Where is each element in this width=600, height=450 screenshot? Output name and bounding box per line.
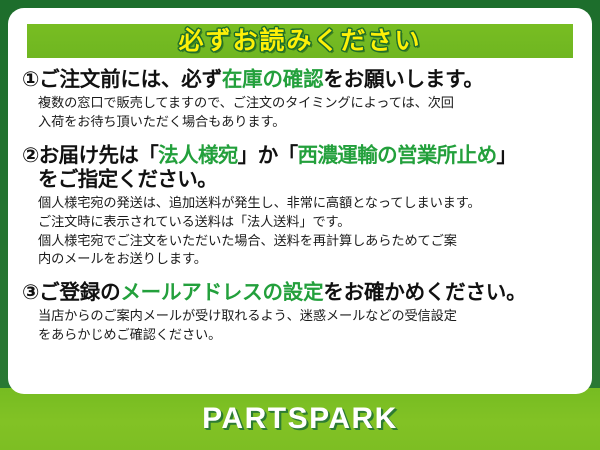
- notice-item-2-highlight-1: 法人様宛: [158, 144, 238, 167]
- white-content-panel: 必ずお読みください ①ご注文前には、必ず在庫の確認をお願いします。 複数の窓口で…: [8, 8, 592, 394]
- notice-item-3-subline-2: をあらかじめご確認ください。: [38, 326, 580, 345]
- notice-item-2: ②お届け先は「法人様宛」か「西濃運輸の営業所止め」をご指定ください。 個人様宅宛…: [22, 144, 580, 269]
- notice-item-1-marker: ①: [22, 68, 39, 91]
- notice-item-2-bracket-close-2: 」: [497, 144, 517, 167]
- notice-item-2-subtext: 個人様宅宛の発送は、追加送料が発生し、非常に高額となってしまいます。 ご注文時に…: [38, 194, 580, 269]
- notice-item-2-headline-post: をご指定ください。: [38, 168, 580, 192]
- notice-item-3: ③ご登録のメールアドレスの設定をお確かめください。 当店からのご案内メールが受け…: [22, 281, 580, 345]
- notice-item-3-headline-highlight: メールアドレスの設定: [120, 281, 323, 304]
- notice-items-list: ①ご注文前には、必ず在庫の確認をお願いします。 複数の窓口で販売してますので、ご…: [8, 68, 592, 394]
- notice-item-1-subtext: 複数の窓口で販売してますので、ご注文のタイミングによっては、次回 入荷をお待ち頂…: [38, 94, 580, 131]
- notice-item-3-headline-pre: ご登録の: [39, 281, 120, 304]
- notice-item-1-headline: ①ご注文前には、必ず在庫の確認をお願いします。: [22, 68, 580, 92]
- notice-item-2-headline: ②お届け先は「法人様宛」か「西濃運輸の営業所止め」をご指定ください。: [22, 144, 580, 192]
- footer-logo-area: PARTSPARK: [0, 388, 600, 450]
- notice-item-3-subline-1: 当店からのご案内メールが受け取れるよう、迷惑メールなどの受信設定: [38, 307, 580, 326]
- notice-item-3-headline-post: をお確かめください。: [323, 281, 526, 304]
- notice-item-2-bracket-close-1: 」: [238, 144, 258, 167]
- notice-item-2-headline-mid: か: [258, 144, 278, 167]
- banner-title: 必ずお読みください: [178, 29, 421, 54]
- notice-item-1: ①ご注文前には、必ず在庫の確認をお願いします。 複数の窓口で販売してますので、ご…: [22, 68, 580, 132]
- notice-item-1-subline-2: 入荷をお待ち頂いただく場合もあります。: [38, 113, 580, 132]
- notice-item-2-marker: ②: [22, 144, 39, 167]
- header-banner: 必ずお読みください: [27, 24, 573, 58]
- notice-item-1-subline-1: 複数の窓口で販売してますので、ご注文のタイミングによっては、次回: [38, 94, 580, 113]
- notice-item-2-subline-3: 個人様宅宛でご注文をいただいた場合、送料を再計算しあらためてご案: [38, 232, 580, 251]
- notice-item-2-bracket-open-1: 「: [138, 144, 158, 167]
- notice-card: 必ずお読みください ①ご注文前には、必ず在庫の確認をお願いします。 複数の窓口で…: [0, 0, 600, 450]
- notice-item-1-headline-highlight: 在庫の確認: [222, 68, 324, 91]
- notice-item-2-headline-pre: お届け先は: [39, 144, 139, 167]
- notice-item-2-subline-1: 個人様宅宛の発送は、追加送料が発生し、非常に高額となってしまいます。: [38, 194, 580, 213]
- notice-item-1-headline-post: をお願いします。: [323, 68, 483, 91]
- notice-item-2-highlight-2: 西濃運輸の営業所止め: [298, 144, 497, 167]
- notice-item-3-marker: ③: [22, 281, 39, 304]
- notice-item-2-bracket-open-2: 「: [278, 144, 298, 167]
- partspark-logo: PARTSPARK: [202, 402, 398, 436]
- notice-item-3-headline: ③ご登録のメールアドレスの設定をお確かめください。: [22, 281, 580, 305]
- notice-item-3-subtext: 当店からのご案内メールが受け取れるよう、迷惑メールなどの受信設定 をあらかじめご…: [38, 307, 580, 344]
- notice-item-1-headline-pre: ご注文前には、必ず: [39, 68, 222, 91]
- notice-item-2-subline-2: ご注文時に表示されている送料は「法人送料」です。: [38, 213, 580, 232]
- notice-item-2-subline-4: 内のメールをお送りします。: [38, 250, 580, 269]
